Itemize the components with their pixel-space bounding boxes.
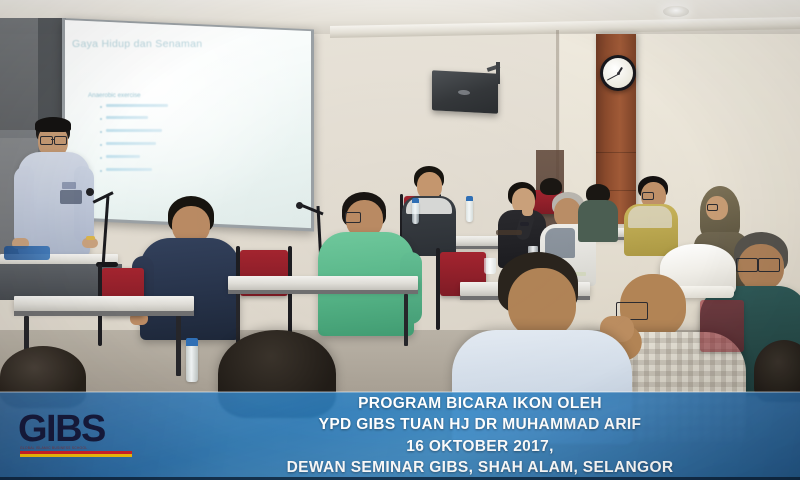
water-bottle: [466, 200, 473, 222]
chair: [700, 300, 744, 352]
slide-sub-bullet-marker: [100, 157, 102, 159]
water-bottle: [186, 344, 198, 382]
water-bottle: [412, 202, 419, 224]
table-edge: [14, 311, 194, 316]
object-on-table: [496, 230, 522, 235]
banner-line-2: YPD GIBS TUAN HJ DR MUHAMMAD ARIF: [319, 415, 642, 435]
table-leg: [176, 316, 181, 376]
event-photograph: Gaya Hidup dan Senaman Anaerobic exercis…: [0, 0, 800, 480]
table-edge: [228, 290, 418, 294]
bottle-cap: [412, 198, 419, 203]
slide-sub-bullet-marker: [100, 118, 102, 120]
slide-bullet: Anaerobic exercise: [88, 92, 141, 99]
slide-sub-bullet: [106, 129, 162, 132]
table: [14, 296, 194, 311]
wall-panel: [0, 18, 38, 138]
gibs-logo: GIBS GLOBAL ISLAMIC BUSINESS SCHOOL: [18, 410, 148, 466]
slide-sub-bullet: [106, 142, 156, 145]
slide-title: Gaya Hidup dan Senaman: [72, 38, 242, 50]
banner-line-3: 16 OKTOBER 2017,: [406, 437, 553, 457]
slide-sub-bullet: [106, 168, 152, 171]
table-leg: [236, 294, 240, 346]
microphone-head: [86, 188, 94, 196]
gibs-tagline: GLOBAL ISLAMIC BUSINESS SCHOOL: [20, 446, 130, 450]
bottle-cap: [186, 338, 198, 346]
logo-yellow-bar: [20, 454, 132, 457]
slide-sub-bullet: [106, 104, 168, 107]
drinking-glass: [484, 258, 496, 274]
slide-sub-bullet-marker: [100, 131, 102, 133]
clock-center-pin: [617, 72, 620, 75]
slide-sub-bullet: [106, 116, 148, 119]
banner-line-1: PROGRAM BICARA IKON OLEH: [358, 394, 602, 414]
banner-text-block: PROGRAM BICARA IKON OLEH YPD GIBS TUAN H…: [170, 393, 790, 479]
bottle-cap: [466, 196, 473, 201]
slide-sub-bullet-marker: [100, 144, 102, 146]
slide-sub-bullet-marker: [100, 106, 102, 108]
gibs-wordmark: GIBS: [18, 410, 105, 448]
slide-sub-bullet-marker: [100, 170, 102, 172]
table: [228, 276, 418, 290]
chair-frame: [436, 248, 440, 330]
object-on-table: [4, 246, 50, 260]
table-leg: [404, 294, 408, 346]
banner-line-4: DEWAN SEMINAR GIBS, SHAH ALAM, SELANGOR: [287, 458, 674, 478]
recessed-ceiling-light: [663, 6, 689, 17]
slide-sub-bullet: [106, 155, 140, 158]
microphone-head: [296, 202, 303, 209]
